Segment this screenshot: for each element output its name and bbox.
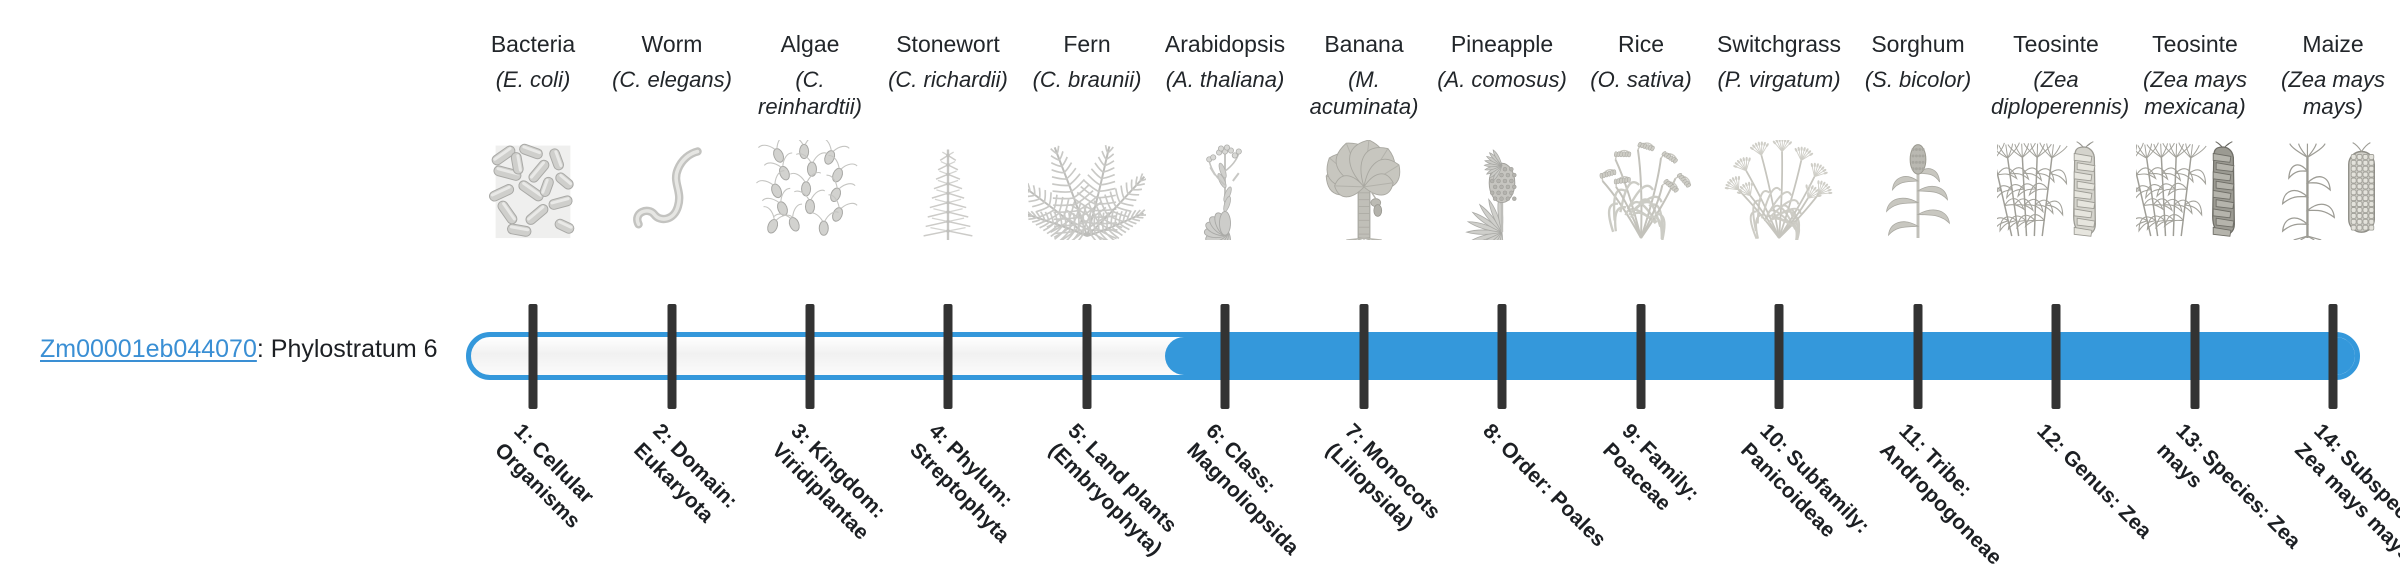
species-common-name: Rice — [1576, 30, 1706, 59]
rank-label-12: 12: Genus: Zea — [2031, 418, 2185, 572]
teosinte-diploperennis-icon — [1997, 140, 2115, 240]
species-column-stonewort-4: Stonewort(C. richardii) — [883, 30, 1013, 94]
gene-phylostratum-label: Zm00001eb044070: Phylostratum 6 — [40, 336, 438, 364]
species-latin-name: (Zea mays mexicana) — [2130, 67, 2260, 121]
timeline-tick-5[interactable] — [1083, 304, 1092, 409]
species-column-teosinte-12: Teosinte(Zea diploperennis) — [1991, 30, 2121, 120]
species-latin-name: (A. thaliana) — [1160, 67, 1290, 94]
species-latin-name: (C. braunii) — [1022, 67, 1152, 94]
timeline-tick-2[interactable] — [668, 304, 677, 409]
species-common-name: Teosinte — [2130, 30, 2260, 59]
rice-icon — [1582, 140, 1700, 240]
species-common-name: Bacteria — [468, 30, 598, 59]
species-column-teosinte-13: Teosinte(Zea mays mexicana) — [2130, 30, 2260, 120]
phylostratigraphy-timeline: Zm00001eb044070: Phylostratum 6 Bacteria… — [0, 0, 2400, 580]
species-common-name: Fern — [1022, 30, 1152, 59]
species-latin-name: (A. comosus) — [1437, 67, 1567, 94]
species-latin-name: (P. virgatum) — [1714, 67, 1844, 94]
species-common-name: Teosinte — [1991, 30, 2121, 59]
species-common-name: Pineapple — [1437, 30, 1567, 59]
species-latin-name: (E. coli) — [468, 67, 598, 94]
gene-label-separator: : — [257, 335, 271, 363]
timeline-tick-1[interactable] — [529, 304, 538, 409]
rank-label-8: 8: Order: Poales — [1477, 418, 1631, 572]
species-common-name: Maize — [2268, 30, 2398, 59]
fern-icon — [1028, 140, 1146, 240]
species-latin-name: (C. richardii) — [883, 67, 1013, 94]
species-column-algae-3: Algae(C. reinhardtii) — [745, 30, 875, 120]
species-common-name: Sorghum — [1853, 30, 1983, 59]
species-column-sorghum-11: Sorghum(S. bicolor) — [1853, 30, 1983, 94]
banana-icon — [1305, 140, 1423, 240]
timeline-tick-9[interactable] — [1637, 304, 1646, 409]
timeline-tick-3[interactable] — [806, 304, 815, 409]
species-column-switchgrass-10: Switchgrass(P. virgatum) — [1714, 30, 1844, 94]
species-common-name: Worm — [607, 30, 737, 59]
bacteria-icon — [474, 140, 592, 240]
species-column-maize-14: Maize(Zea mays mays) — [2268, 30, 2398, 120]
species-latin-name: (S. bicolor) — [1853, 67, 1983, 94]
worm-icon — [613, 140, 731, 240]
timeline-tick-13[interactable] — [2191, 304, 2200, 409]
teosinte-mexicana-icon — [2136, 140, 2254, 240]
species-latin-name: (C. reinhardtii) — [745, 67, 875, 121]
species-column-banana-7: Banana(M. acuminata) — [1299, 30, 1429, 120]
stonewort-icon — [889, 140, 1007, 240]
timeline-tick-10[interactable] — [1775, 304, 1784, 409]
timeline-tick-4[interactable] — [944, 304, 953, 409]
species-latin-name: (C. elegans) — [607, 67, 737, 94]
algae-icon — [751, 140, 869, 240]
timeline-tick-8[interactable] — [1498, 304, 1507, 409]
species-latin-name: (Zea mays mays) — [2268, 67, 2398, 121]
species-common-name: Arabidopsis — [1160, 30, 1290, 59]
species-column-worm-2: Worm(C. elegans) — [607, 30, 737, 94]
species-latin-name: (M. acuminata) — [1299, 67, 1429, 121]
timeline-tick-6[interactable] — [1221, 304, 1230, 409]
species-column-fern-5: Fern(C. braunii) — [1022, 30, 1152, 94]
timeline-tick-7[interactable] — [1360, 304, 1369, 409]
rank-label-1: 1: Cellular Organisms — [488, 418, 661, 580]
arabidopsis-icon — [1166, 140, 1284, 240]
phylostratum-progress-fill — [1165, 337, 2360, 375]
pineapple-icon — [1443, 140, 1561, 240]
phylostratum-progress-track[interactable] — [466, 332, 2360, 380]
species-common-name: Stonewort — [883, 30, 1013, 59]
switchgrass-icon — [1720, 140, 1838, 240]
maize-icon — [2274, 140, 2392, 240]
gene-id-link[interactable]: Zm00001eb044070 — [40, 335, 257, 363]
sorghum-icon — [1859, 140, 1977, 240]
species-common-name: Switchgrass — [1714, 30, 1844, 59]
timeline-tick-12[interactable] — [2052, 304, 2061, 409]
species-common-name: Banana — [1299, 30, 1429, 59]
phylostratum-value: Phylostratum 6 — [271, 335, 438, 363]
species-latin-name: (O. sativa) — [1576, 67, 1706, 94]
species-column-arabidopsis-6: Arabidopsis(A. thaliana) — [1160, 30, 1290, 94]
species-latin-name: (Zea diploperennis) — [1991, 67, 2121, 121]
species-column-rice-9: Rice(O. sativa) — [1576, 30, 1706, 94]
timeline-tick-11[interactable] — [1914, 304, 1923, 409]
species-column-bacteria-1: Bacteria(E. coli) — [468, 30, 598, 94]
timeline-tick-14[interactable] — [2329, 304, 2338, 409]
species-column-pineapple-8: Pineapple(A. comosus) — [1437, 30, 1567, 94]
species-common-name: Algae — [745, 30, 875, 59]
